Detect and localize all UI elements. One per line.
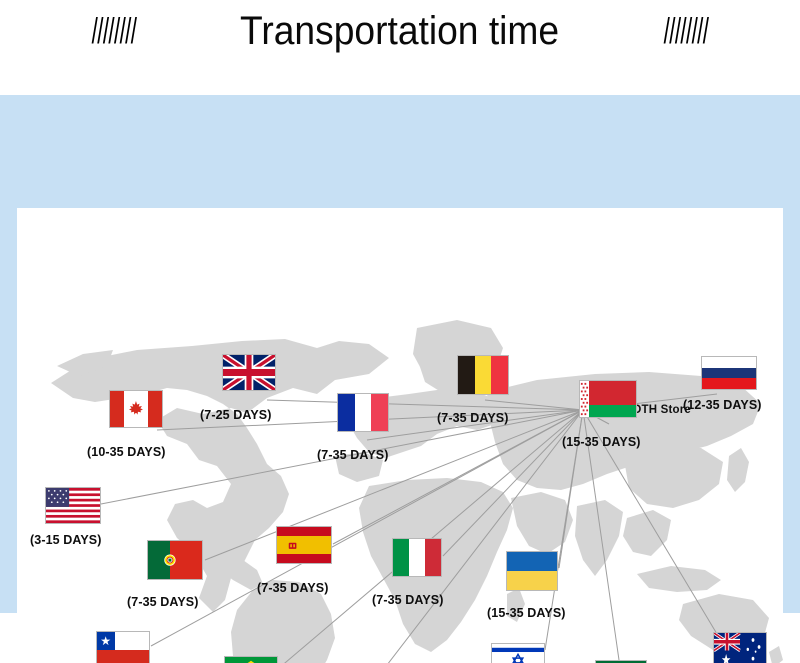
page-header: //////// Transportation time ////////	[0, 0, 800, 95]
delivery-label-canada: (10-35 DAYS)	[87, 445, 166, 459]
delivery-label-united-states: (3-15 DAYS)	[30, 533, 102, 547]
header-inner: //////// Transportation time ////////	[0, 0, 800, 62]
flag-russia	[701, 356, 757, 390]
flag-belgium	[457, 355, 509, 395]
flag-australia	[713, 632, 767, 663]
page-title: Transportation time	[240, 9, 559, 54]
flag-united-states	[45, 487, 101, 524]
blue-frame-border: FUN CLOTH Store (10-35 DAYS) (7-25	[0, 95, 800, 613]
delivery-label-ukraine: (15-35 DAYS)	[487, 606, 566, 620]
delivery-label-portugal: (7-35 DAYS)	[127, 595, 199, 609]
delivery-label-spain: (7-35 DAYS)	[257, 581, 329, 595]
left-slash-decoration-icon: ////////	[92, 10, 137, 52]
flag-brazil	[224, 656, 278, 663]
flag-portugal	[147, 540, 203, 580]
delivery-label-italy: (7-35 DAYS)	[372, 593, 444, 607]
delivery-label-russia: (12-35 DAYS)	[683, 398, 762, 412]
right-slash-decoration-icon: ////////	[663, 10, 708, 52]
flag-canada	[109, 390, 163, 428]
world-map-panel: FUN CLOTH Store (10-35 DAYS) (7-25	[17, 208, 783, 663]
flag-chile	[96, 631, 150, 663]
delivery-label-united-kingdom: (7-25 DAYS)	[200, 408, 272, 422]
flag-spain	[276, 526, 332, 564]
flag-italy	[392, 538, 442, 577]
flag-israel	[491, 643, 545, 663]
delivery-label-france: (7-35 DAYS)	[317, 448, 389, 462]
flag-belarus	[579, 380, 637, 418]
flag-france	[337, 393, 389, 432]
delivery-label-belarus: (15-35 DAYS)	[562, 435, 641, 449]
delivery-label-belgium: (7-35 DAYS)	[437, 411, 509, 425]
flag-ukraine	[506, 551, 558, 591]
flag-united-kingdom	[222, 354, 276, 391]
